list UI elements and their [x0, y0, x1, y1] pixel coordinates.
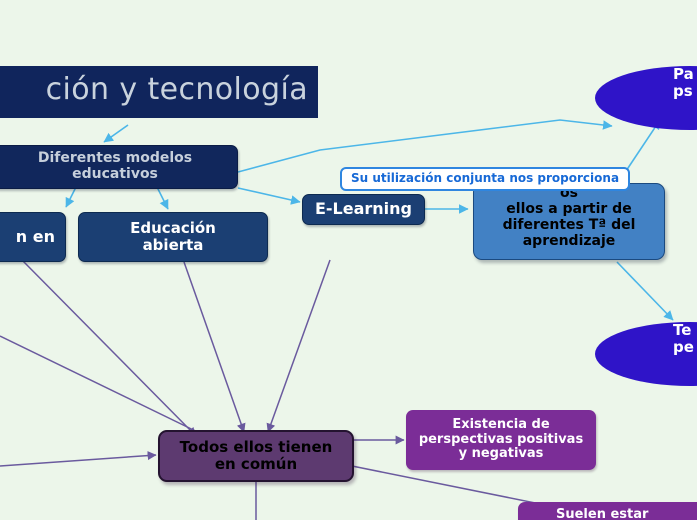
node-label-line: educativos — [72, 167, 158, 183]
mindmap-canvas: ción y tecnología Diferentes modelos edu… — [0, 0, 697, 520]
diagram-title: ción y tecnología — [0, 66, 318, 118]
node-educacion-abierta[interactable]: Educación abierta — [78, 212, 268, 262]
node-label-line: Todos ellos tienen — [180, 439, 333, 456]
ellipse-node-bottom[interactable]: Te pe — [595, 322, 697, 386]
node-label-line: y negativas — [459, 447, 544, 462]
node-label-line: pe — [673, 339, 694, 356]
node-label-line: ellos a partir de — [506, 202, 631, 218]
node-diferentes-modelos-educativos[interactable]: Diferentes modelos educativos — [0, 145, 238, 189]
node-label-line: Existencia de — [452, 418, 549, 433]
node-teorias-aprendizaje[interactable]: os ellos a partir de diferentes Tª del a… — [473, 183, 665, 260]
callout-utilizacion-conjunta: Su utilización conjunta nos proporciona — [340, 167, 630, 191]
node-label-line: Diferentes modelos — [38, 151, 192, 167]
node-formacion-clipped[interactable]: n en — [0, 212, 66, 262]
node-label-line: diferentes Tª del — [503, 218, 636, 234]
ellipse-node-top[interactable]: Pa ps — [595, 66, 697, 130]
node-label-line: Educación — [130, 220, 216, 237]
node-label-line: perspectivas positivas — [419, 433, 583, 448]
node-todos-ellos-en-comun[interactable]: Todos ellos tienen en común — [158, 430, 354, 482]
node-existencia-perspectivas[interactable]: Existencia de perspectivas positivas y n… — [406, 410, 596, 470]
node-label-line: Pa — [673, 66, 694, 83]
node-suelen-estar-clipped[interactable]: Suelen estar — [518, 502, 697, 520]
node-label-line: ps — [673, 83, 693, 100]
node-label-line: aprendizaje — [523, 234, 616, 250]
node-label-line: en común — [215, 456, 297, 473]
node-label-line: abierta — [143, 237, 204, 254]
node-label-line: Te — [673, 322, 691, 339]
node-e-learning[interactable]: E-Learning — [302, 194, 425, 225]
